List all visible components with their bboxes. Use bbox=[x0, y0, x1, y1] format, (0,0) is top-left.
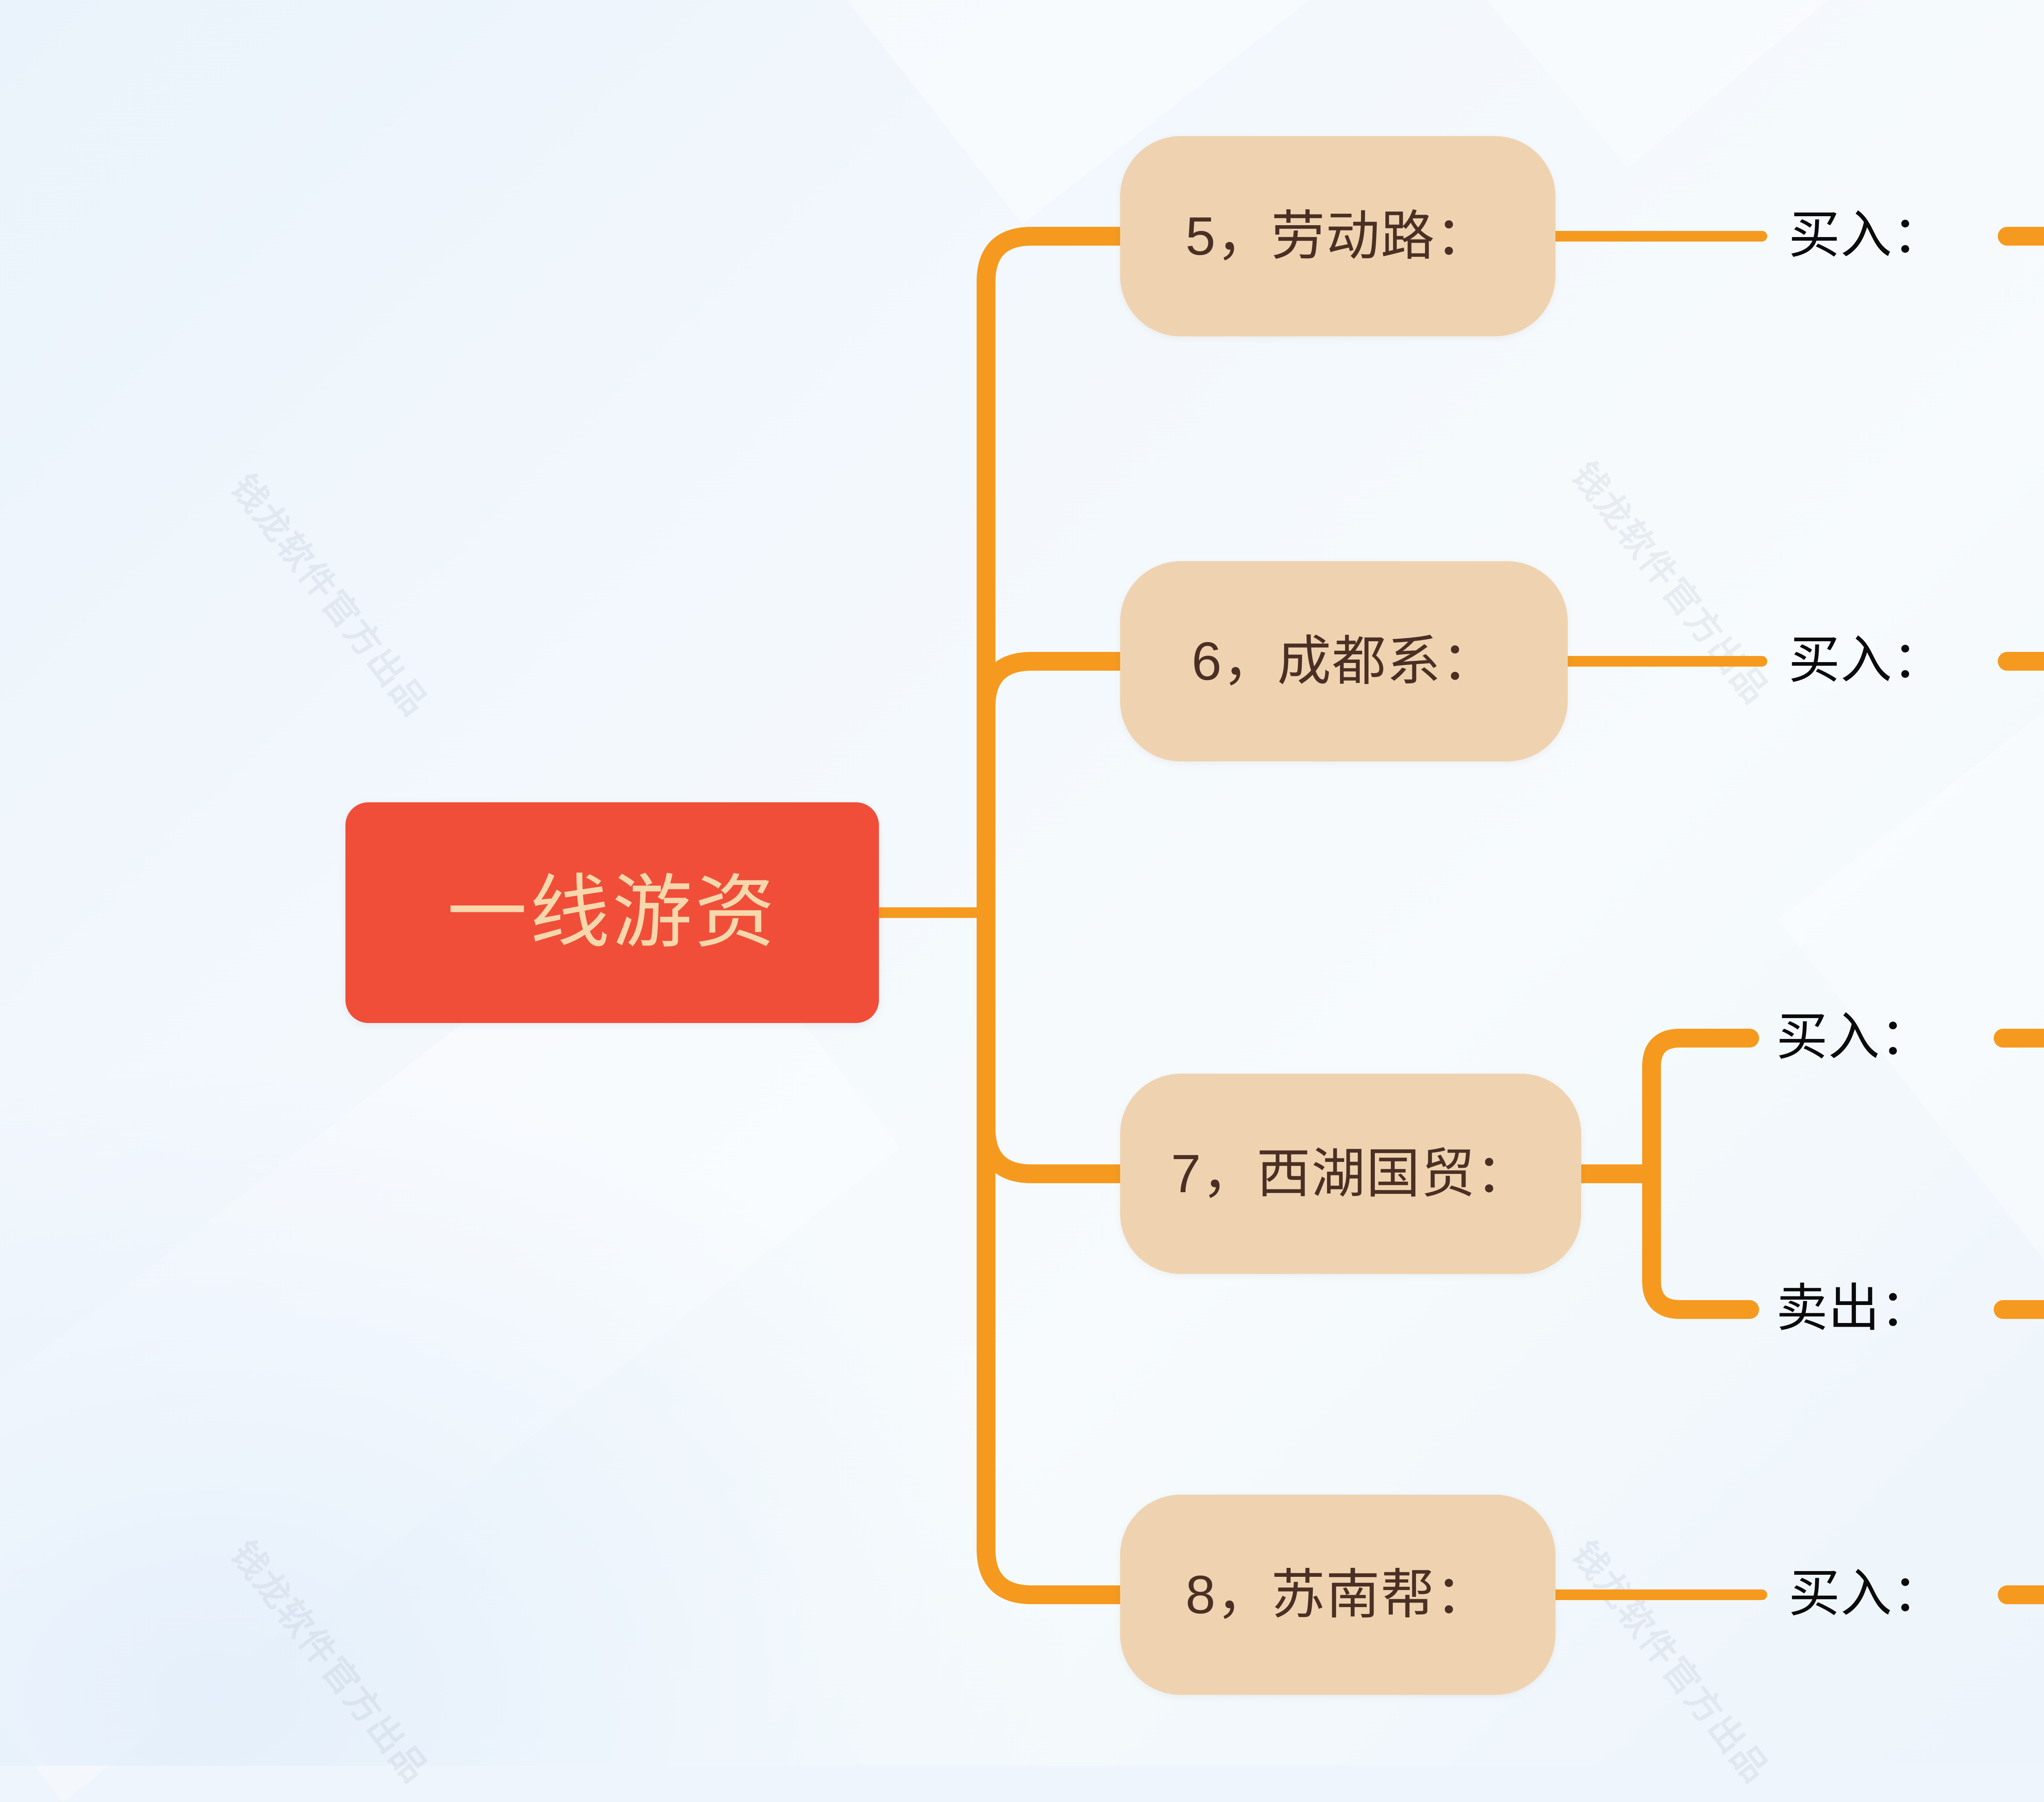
branch-node-1[interactable]: 5，劳动路： bbox=[1120, 136, 1555, 336]
branch-node-3[interactable]: 7，西湖国贸： bbox=[1120, 1074, 1581, 1274]
branch-node-4-label: 8，苏南帮： bbox=[1186, 1568, 1490, 1622]
branch-node-4[interactable]: 8，苏南帮： bbox=[1120, 1495, 1555, 1695]
branch-node-2[interactable]: 6，成都系： bbox=[1120, 561, 1568, 761]
branch-3-group-2-label: 卖出： bbox=[1776, 1283, 1932, 1334]
root-node-label: 一线游资 bbox=[447, 873, 777, 953]
connector-lines bbox=[0, 0, 2044, 1766]
branch-4-group-1-label: 买入： bbox=[1788, 1568, 1944, 1619]
branch-node-1-label: 5，劳动路： bbox=[1186, 209, 1490, 263]
branch-1-group-1-label: 买入： bbox=[1788, 209, 1944, 261]
mindmap-canvas: 钱龙软件官方出品 钱龙软件官方出品 钱龙软件官方出品 钱龙软件官方出品 bbox=[0, 0, 2044, 1766]
branch-node-2-label: 6，成都系： bbox=[1192, 634, 1496, 688]
root-node[interactable]: 一线游资 bbox=[345, 802, 879, 1023]
branch-2-group-1-label: 买入： bbox=[1788, 634, 1944, 686]
branch-node-3-label: 7，西湖国贸： bbox=[1171, 1147, 1530, 1201]
branch-3-group-1-label: 买入： bbox=[1776, 1011, 1932, 1063]
